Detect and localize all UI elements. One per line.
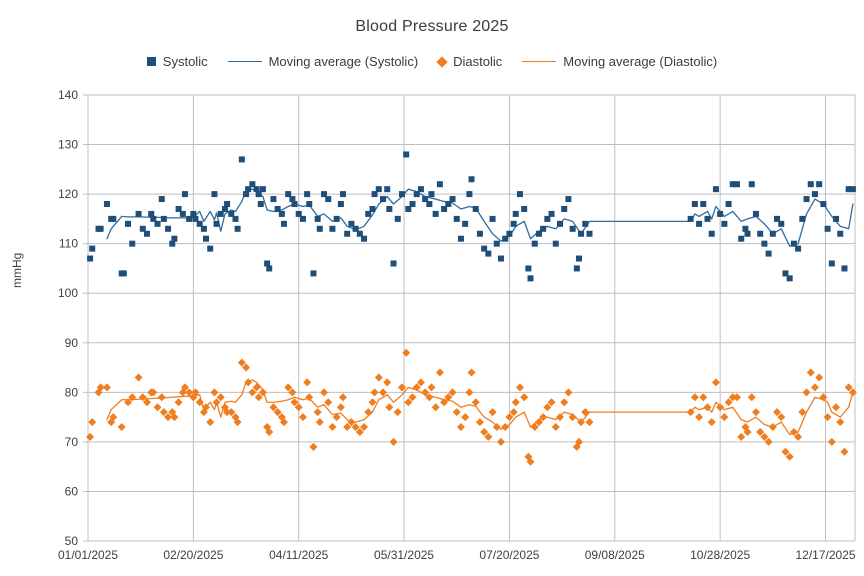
svg-text:110: 110 <box>59 237 78 251</box>
x-axis-ticks: 01/01/202502/20/202504/11/202505/31/2025… <box>58 548 856 562</box>
y-axis-ticks: 5060708090100110120130140 <box>58 88 88 548</box>
svg-text:140: 140 <box>58 88 78 102</box>
svg-text:09/08/2025: 09/08/2025 <box>585 548 645 562</box>
gridlines <box>88 95 855 541</box>
svg-text:100: 100 <box>58 286 78 300</box>
svg-text:12/17/2025: 12/17/2025 <box>795 548 855 562</box>
svg-text:90: 90 <box>65 336 79 350</box>
svg-text:04/11/2025: 04/11/2025 <box>269 548 328 562</box>
svg-text:80: 80 <box>65 385 79 399</box>
svg-text:120: 120 <box>58 187 78 201</box>
svg-text:60: 60 <box>65 484 79 498</box>
svg-text:50: 50 <box>65 534 79 548</box>
svg-text:02/20/2025: 02/20/2025 <box>163 548 223 562</box>
diastolic-scatter-points <box>86 349 857 466</box>
svg-text:70: 70 <box>65 435 79 449</box>
svg-text:10/28/2025: 10/28/2025 <box>690 548 750 562</box>
moving-average-diastolic-line <box>107 380 853 435</box>
plot-area: 5060708090100110120130140 01/01/202502/2… <box>0 0 864 576</box>
svg-text:01/01/2025: 01/01/2025 <box>58 548 118 562</box>
chart-container: Blood Pressure 2025 Systolic Moving aver… <box>0 0 864 576</box>
svg-text:07/20/2025: 07/20/2025 <box>479 548 539 562</box>
svg-text:05/31/2025: 05/31/2025 <box>374 548 434 562</box>
svg-text:130: 130 <box>58 138 78 152</box>
